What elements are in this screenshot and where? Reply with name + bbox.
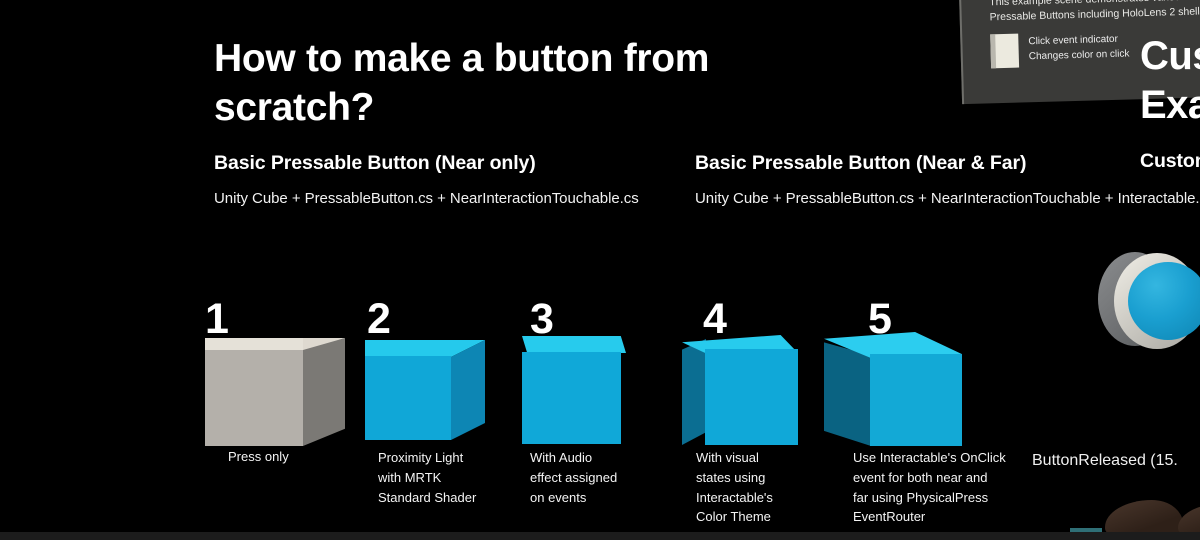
round-pressable-button[interactable] [1098,252,1200,354]
column-near-and-far: Basic Pressable Button (Near & Far) Unit… [695,152,1200,211]
bottom-ledge [0,532,1200,540]
step-number-2: 2 [367,298,391,341]
page-title: How to make a button from scratch? [214,34,834,132]
click-indicator-label: Click event indicator Changes color on c… [1028,33,1129,65]
step-caption-1: Press only [228,447,358,467]
round-button-cap [1128,262,1200,340]
foreground-hand-left [1105,500,1183,534]
step-caption-5: Use Interactable's OnClick event for bot… [853,448,1028,527]
cube-2-top-face [365,340,451,357]
cube-2-front-face [365,356,451,440]
cube-1-gray[interactable] [205,338,345,446]
cube-3-cyan[interactable] [522,336,626,444]
step-caption-4: With visual states using Interactable's … [696,448,846,527]
cube-1-right-face [303,338,345,446]
overlay-headline: Cus Exa [1140,32,1200,130]
cube-1-front-face [205,350,303,446]
column-custom-pressable: Custom Pressab [1140,148,1200,176]
cube-1-top-face [205,338,303,350]
column-list-near-and-far: Unity Cube + PressableButton.cs + NearIn… [695,187,1200,211]
column-heading-custom-pressable: Custom Pressab [1140,148,1200,176]
cube-4-front-face [705,349,798,445]
step-caption-3: With Audio effect assigned on events [530,448,670,507]
cube-2-cyan[interactable] [365,340,485,440]
column-heading-near-and-far: Basic Pressable Button (Near & Far) [695,152,1200,175]
cube-4-cyan[interactable] [682,335,798,445]
column-heading-near-only: Basic Pressable Button (Near only) [214,152,639,175]
click-indicator-swatch[interactable] [990,33,1019,68]
cube-3-front-face [522,352,621,444]
slide-stage: How to make a button from scratch? Basic… [0,0,1200,540]
cube-2-right-face [451,340,485,440]
cube-5-cyan[interactable] [824,332,962,446]
step-number-1: 1 [205,298,229,341]
column-list-near-only: Unity Cube + PressableButton.cs + NearIn… [214,187,639,211]
foreground-hand-right [1178,504,1200,534]
button-released-status: ButtonReleased (15. [1032,452,1178,470]
info-panel-description: This example scene demonstrates various … [989,0,1200,25]
cube-3-top-face [522,336,626,353]
step-caption-2: Proximity Light with MRTK Standard Shade… [378,448,518,507]
cube-5-front-face [870,354,962,446]
step-number-3: 3 [530,298,554,341]
column-near-only: Basic Pressable Button (Near only) Unity… [214,152,639,211]
cube-4-left-face [682,339,706,445]
